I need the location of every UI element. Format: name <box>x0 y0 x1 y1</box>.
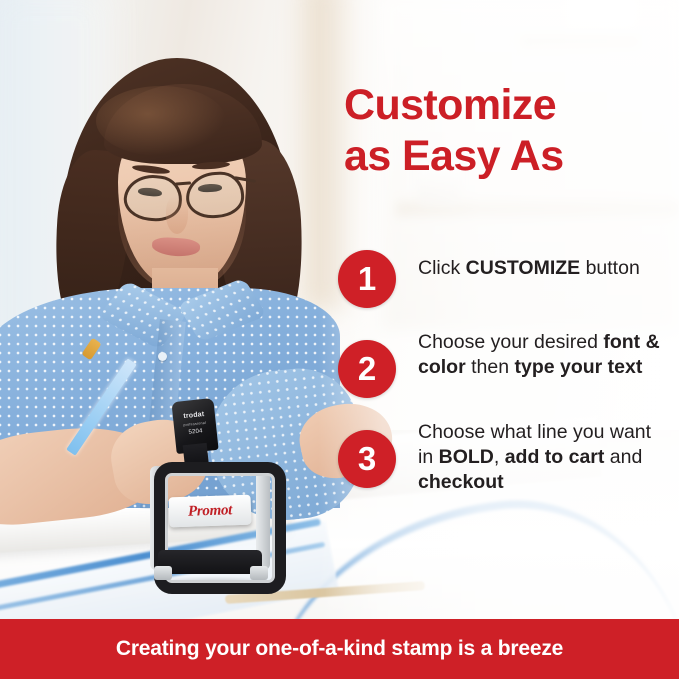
step-text-2: Choose your desired font & color then ty… <box>418 330 668 380</box>
headline-line-2: as Easy As <box>344 131 664 182</box>
promo-image: trodat professional 5204 Promot Customiz… <box>0 0 679 679</box>
stamp-plate-text: Promot <box>188 502 233 521</box>
background-picture-frame <box>565 0 637 28</box>
stamp-text-plate: Promot <box>169 495 252 528</box>
nose <box>166 196 188 234</box>
self-inking-stamp: trodat professional 5204 Promot <box>146 400 276 585</box>
step-number-badge-3: 3 <box>338 430 396 488</box>
stamp-foot-right <box>250 566 268 580</box>
stamp-base <box>158 550 262 574</box>
step-number-badge-2: 2 <box>338 340 396 398</box>
stamp-foot-left <box>154 566 172 580</box>
step-text-1: Click CUSTOMIZE button <box>418 248 640 281</box>
bottom-banner: Creating your one-of-a-kind stamp is a b… <box>0 619 679 679</box>
hair-highlight <box>96 86 226 156</box>
headline-line-1: Customize <box>344 80 664 131</box>
stamp-brand-label: trodat professional 5204 <box>176 410 215 442</box>
step-item-3: 3 Choose what line you want in BOLD, add… <box>338 422 668 495</box>
headline: Customize as Easy As <box>344 80 664 182</box>
step-item-1: 1 Click CUSTOMIZE button <box>338 250 668 308</box>
step-text-3: Choose what line you want in BOLD, add t… <box>418 420 668 495</box>
background-shelf-board <box>520 36 640 46</box>
banner-text: Creating your one-of-a-kind stamp is a b… <box>116 637 563 661</box>
step-item-2: 2 Choose your desired font & color then … <box>338 332 668 398</box>
steps-list: 1 Click CUSTOMIZE button 2 Choose your d… <box>338 250 668 519</box>
step-number-badge-1: 1 <box>338 250 396 308</box>
shirt-button <box>158 352 167 361</box>
